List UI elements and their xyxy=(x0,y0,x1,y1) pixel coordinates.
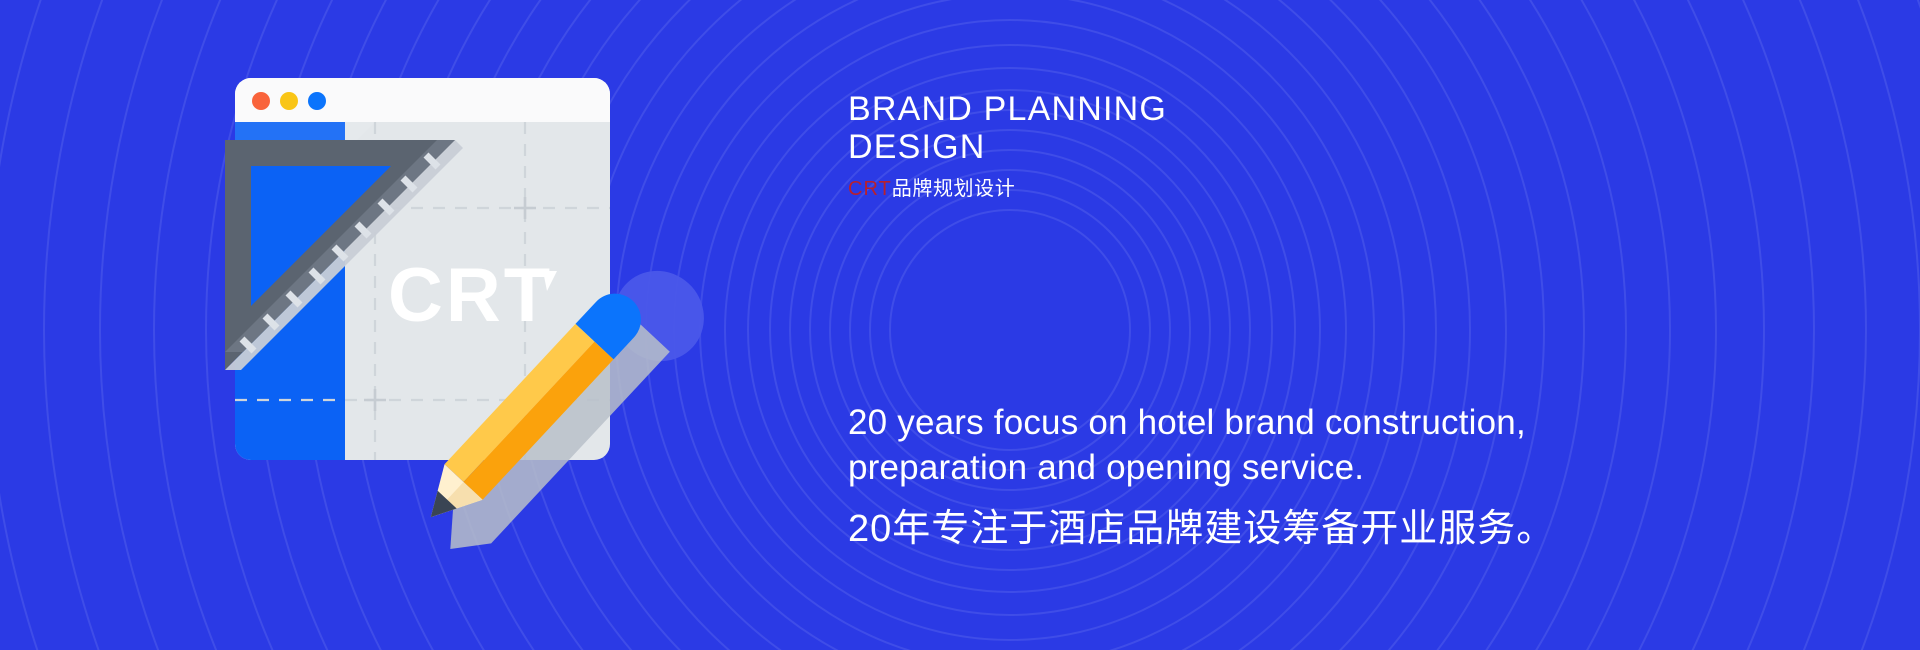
tagline-block: 20 years focus on hotel brand constructi… xyxy=(848,400,1648,552)
eyebrow-english-heading: BRAND PLANNING DESIGN xyxy=(848,90,1488,166)
tagline-chinese: 20年专注于酒店品牌建设筹备开业服务。 xyxy=(848,506,1648,552)
paper-crt-logo: CRT xyxy=(388,253,557,338)
eyebrow-chinese-text: 品牌规划设计 xyxy=(892,178,1016,200)
minimize-dot xyxy=(280,92,298,110)
maximize-dot xyxy=(308,92,326,110)
eyebrow-block: BRAND PLANNING DESIGN CRT品牌规划设计 xyxy=(848,90,1488,201)
eyebrow-chinese-heading: CRT品牌规划设计 xyxy=(848,177,1488,201)
hero-illustration: CRT xyxy=(225,78,835,560)
promo-banner: CRT xyxy=(0,0,1920,650)
eyebrow-brand-accent: CRT xyxy=(848,178,892,200)
copy-column: BRAND PLANNING DESIGN CRT品牌规划设计 20 years… xyxy=(848,0,1868,650)
svg-text:CRT: CRT xyxy=(388,253,553,338)
close-dot xyxy=(252,92,270,110)
tagline-english: 20 years focus on hotel brand constructi… xyxy=(848,400,1648,490)
